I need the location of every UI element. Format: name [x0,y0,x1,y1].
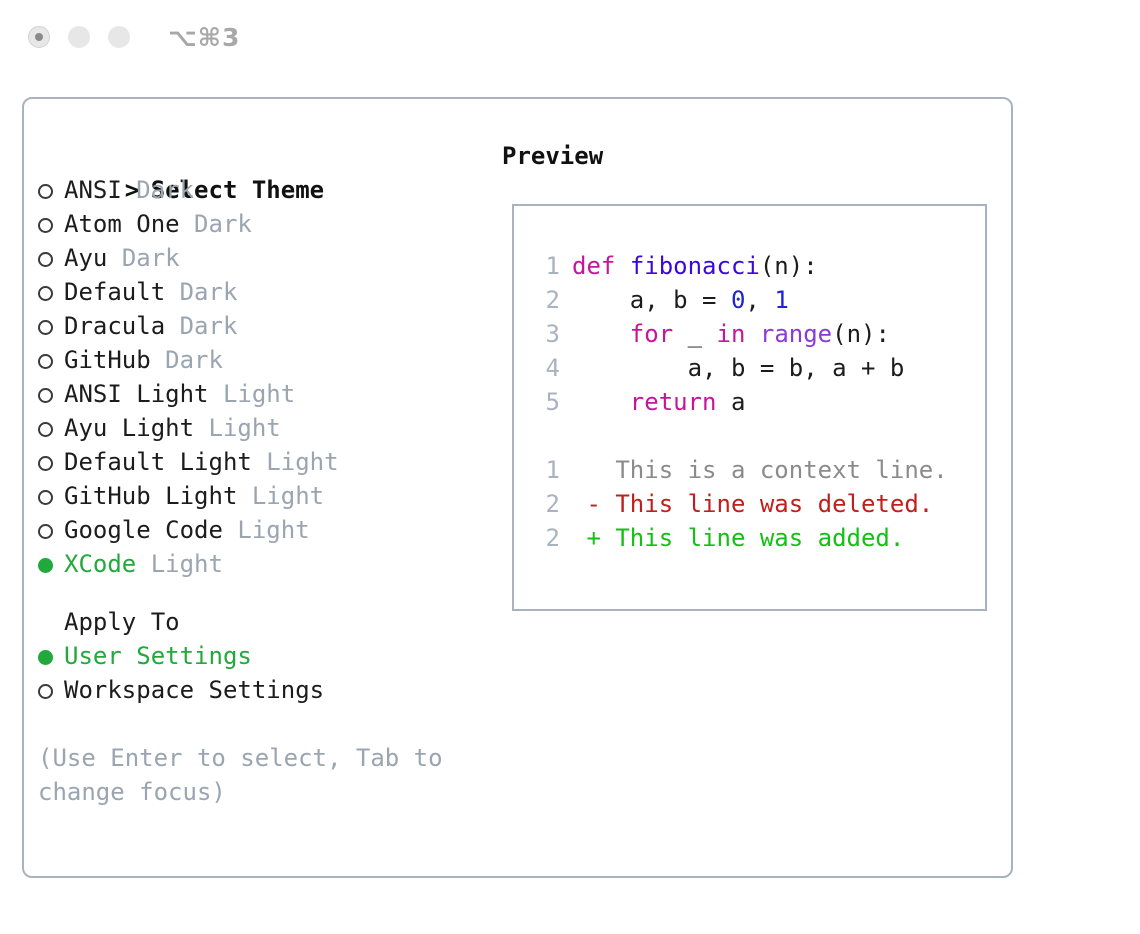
theme-option-default[interactable]: Default Dark [38,275,478,309]
line-number: 5 [532,385,560,419]
diff-line-text: + This line was added. [572,524,904,552]
traffic-light-group [28,26,130,48]
theme-variant-label: Light [209,414,281,442]
code-token-kw: for [630,320,673,348]
theme-option-name: Ayu Light [64,414,194,442]
code-token-kw: return [630,388,717,416]
theme-variant-label: Dark [180,312,238,340]
code-token-plain: (n): [760,252,818,280]
code-preview-area: 1def fibonacci(n):2 a, b = 0, 13 for _ i… [532,249,948,555]
theme-option-github[interactable]: GitHub Dark [38,343,478,377]
theme-option-atom-one[interactable]: Atom One Dark [38,207,478,241]
radio-selected-icon [38,639,64,673]
diff-line: 2 - This line was deleted. [532,487,948,521]
theme-variant-label: Dark [180,278,238,306]
line-number: 3 [532,317,560,351]
theme-list-column: >Select Theme ANSI DarkAtom One DarkAyu … [38,139,478,809]
theme-option-name: Atom One [64,210,180,238]
theme-option-name: Ayu [64,244,107,272]
spacer [151,346,165,374]
theme-variant-label: Light [237,516,309,544]
theme-option-name: ANSI [64,176,122,204]
bullet-empty-icon [38,320,53,335]
code-token-plain [615,252,629,280]
bullet-filled-icon [38,558,53,573]
theme-variant-label: Light [151,550,223,578]
spacer [136,550,150,578]
close-dot-icon [35,33,43,41]
apply-to-option-workspace-settings[interactable]: Workspace Settings [38,673,478,707]
theme-option-default-light[interactable]: Default Light Light [38,445,478,479]
line-number: 2 [532,283,560,317]
theme-option-name: Default [64,278,165,306]
theme-option-name: Default Light [64,448,252,476]
spacer [122,176,136,204]
radio-empty-icon [38,513,64,547]
apply-to-option-list: User SettingsWorkspace Settings [38,639,478,707]
code-token-plain: _ [673,320,716,348]
theme-option-ayu-light[interactable]: Ayu Light Light [38,411,478,445]
code-token-plain: a, b = [572,286,731,314]
spacer [194,414,208,442]
theme-variant-label: Dark [136,176,194,204]
preview-box: 1def fibonacci(n):2 a, b = 0, 13 for _ i… [512,204,987,611]
apply-to-option-user-settings[interactable]: User Settings [38,639,478,673]
theme-option-ansi-light[interactable]: ANSI Light Light [38,377,478,411]
keyboard-hint-text: (Use Enter to select, Tab to change focu… [38,741,458,809]
theme-option-ayu[interactable]: Ayu Dark [38,241,478,275]
code-line: 1def fibonacci(n): [532,249,948,283]
spacer [165,312,179,340]
bullet-empty-icon [38,524,53,539]
code-line: 4 a, b = b, a + b [532,351,948,385]
code-token-kw: def [572,252,615,280]
theme-option-name: Google Code [64,516,223,544]
bullet-empty-icon [38,286,53,301]
apply-to-option-label: Workspace Settings [64,676,324,704]
bullet-filled-icon [38,650,53,665]
radio-empty-icon [38,309,64,343]
radio-empty-icon [38,275,64,309]
window-zoom-icon[interactable] [108,26,130,48]
theme-option-list: ANSI DarkAtom One DarkAyu DarkDefault Da… [38,173,478,581]
code-token-plain: a [717,388,746,416]
theme-option-name: XCode [64,550,136,578]
spacer [107,244,121,272]
theme-option-google-code[interactable]: Google Code Light [38,513,478,547]
line-number: 4 [532,351,560,385]
diff-line-text: - This line was deleted. [572,490,933,518]
radio-empty-icon [38,479,64,513]
code-blank-line [532,419,948,453]
theme-option-xcode[interactable]: XCode Light [38,547,478,581]
preview-header: Preview [502,139,603,173]
radio-empty-icon [38,377,64,411]
theme-option-name: ANSI Light [64,380,209,408]
bullet-empty-icon [38,218,53,233]
code-token-plain: (n): [832,320,890,348]
keyboard-shortcut-label: ⌥⌘3 [168,23,240,52]
code-line: 2 a, b = 0, 1 [532,283,948,317]
spacer [223,516,237,544]
bullet-empty-icon [38,684,53,699]
diff-line: 1 This is a context line. [532,453,948,487]
code-token-plain: a, b = b, a + b [572,354,904,382]
bullet-empty-icon [38,422,53,437]
code-token-plain [745,320,759,348]
apply-to-option-label: User Settings [64,642,252,670]
line-number: 1 [532,249,560,283]
theme-option-github-light[interactable]: GitHub Light Light [38,479,478,513]
radio-empty-icon [38,343,64,377]
theme-option-name: GitHub Light [64,482,237,510]
theme-variant-label: Dark [165,346,223,374]
theme-variant-label: Dark [122,244,180,272]
diff-line: 2 + This line was added. [532,521,948,555]
diff-line-text: This is a context line. [572,456,948,484]
spacer [165,278,179,306]
select-theme-header: >Select Theme [38,139,478,173]
spacer [209,380,223,408]
code-token-call: range [760,320,832,348]
diff-line-number: 1 [532,453,560,487]
bullet-empty-icon [38,252,53,267]
code-token-plain: , [745,286,774,314]
radio-empty-icon [38,445,64,479]
diff-line-number: 2 [532,487,560,521]
window-minimize-icon[interactable] [68,26,90,48]
radio-empty-icon [38,241,64,275]
spacer [252,448,266,476]
bullet-empty-icon [38,456,53,471]
code-token-num: 1 [774,286,788,314]
theme-option-name: Dracula [64,312,165,340]
bullet-empty-icon [38,490,53,505]
theme-variant-label: Dark [194,210,252,238]
code-token-kw: in [717,320,746,348]
theme-option-dracula[interactable]: Dracula Dark [38,309,478,343]
code-line: 3 for _ in range(n): [532,317,948,351]
window-titlebar: ⌥⌘3 [0,0,1140,78]
radio-selected-icon [38,547,64,581]
code-token-plain [572,320,630,348]
theme-selector-panel: >Select Theme ANSI DarkAtom One DarkAyu … [22,97,1013,878]
code-line: 5 return a [532,385,948,419]
radio-empty-icon [38,411,64,445]
code-token-fn: fibonacci [630,252,760,280]
spacer [180,210,194,238]
apply-to-header: Apply To [38,605,478,639]
theme-option-name: GitHub [64,346,151,374]
theme-variant-label: Light [223,380,295,408]
window-close-icon[interactable] [28,26,50,48]
apply-to-section: Apply To User SettingsWorkspace Settings [38,605,478,707]
radio-empty-icon [38,673,64,707]
theme-variant-label: Light [252,482,324,510]
bullet-empty-icon [38,184,53,199]
theme-variant-label: Light [266,448,338,476]
spacer [237,482,251,510]
radio-empty-icon [38,173,64,207]
bullet-empty-icon [38,388,53,403]
code-token-plain [572,388,630,416]
bullet-empty-icon [38,354,53,369]
code-token-num: 0 [731,286,745,314]
radio-empty-icon [38,207,64,241]
diff-line-number: 2 [532,521,560,555]
